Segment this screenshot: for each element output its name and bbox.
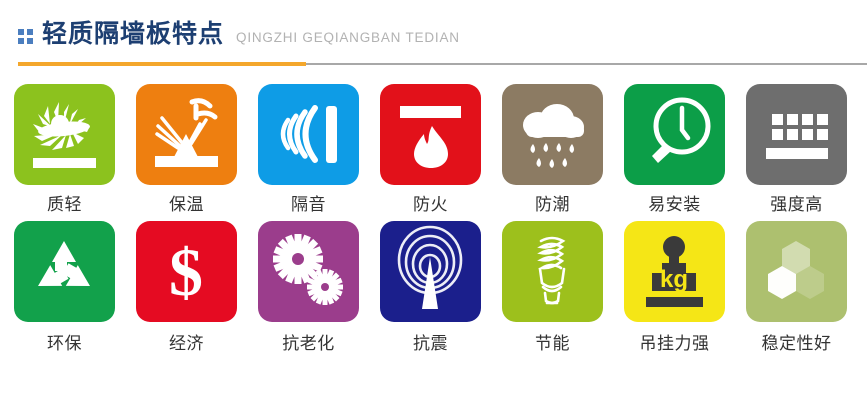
feature-tile[interactable] xyxy=(624,84,725,185)
feature-item[interactable]: $ 经济 xyxy=(136,221,237,354)
feature-label: 节能 xyxy=(502,335,603,354)
feature-item[interactable]: 防火 xyxy=(380,84,481,215)
feature-item[interactable]: 隔音 xyxy=(258,84,359,215)
feature-item[interactable]: 质轻 xyxy=(14,84,115,215)
kg-weight-icon: kg xyxy=(624,221,725,322)
feature-label: 强度高 xyxy=(746,196,847,215)
feature-item[interactable]: 保温 xyxy=(136,84,237,215)
feature-item[interactable]: 抗老化 xyxy=(258,221,359,354)
brick-wall-icon xyxy=(746,84,847,185)
feature-label: 防潮 xyxy=(502,196,603,215)
feature-tile[interactable] xyxy=(14,221,115,322)
feature-tile[interactable]: kg xyxy=(624,221,725,322)
feature-tile[interactable] xyxy=(258,84,359,185)
feature-label: 吊挂力强 xyxy=(624,335,725,354)
feature-tile[interactable] xyxy=(258,221,359,322)
feature-label: 稳定性好 xyxy=(746,335,847,354)
feature-label: 抗震 xyxy=(380,335,481,354)
page-title: 轻质隔墙板特点 xyxy=(42,22,224,47)
feature-tile[interactable] xyxy=(746,84,847,185)
feature-label: 抗老化 xyxy=(258,335,359,354)
clock-wrench-icon xyxy=(624,84,725,185)
feature-tile[interactable] xyxy=(14,84,115,185)
feature-label: 质轻 xyxy=(14,196,115,215)
feature-label: 保温 xyxy=(136,196,237,215)
features-grid: 质轻 xyxy=(0,72,867,353)
page-header: 轻质隔墙板特点 QINGZHI GEQIANGBAN TEDIAN xyxy=(0,0,867,72)
divider-accent xyxy=(18,62,306,66)
page-subtitle: QINGZHI GEQIANGBAN TEDIAN xyxy=(236,31,460,45)
feather-on-board-icon xyxy=(14,84,115,185)
feature-item[interactable]: 抗震 xyxy=(380,221,481,354)
sun-rays-on-board-icon xyxy=(136,84,237,185)
sound-waves-wall-icon xyxy=(258,84,359,185)
features-row-2: 环保 $ 经济 xyxy=(0,221,867,354)
hexagons-icon xyxy=(746,221,847,322)
feature-tile[interactable] xyxy=(380,221,481,322)
grid-dots-icon xyxy=(18,29,33,44)
gears-icon xyxy=(258,221,359,322)
feature-label: 环保 xyxy=(14,335,115,354)
seismic-tower-icon xyxy=(380,221,481,322)
feature-tile[interactable] xyxy=(502,221,603,322)
feature-label: 易安装 xyxy=(624,196,725,215)
feature-item[interactable]: 环保 xyxy=(14,221,115,354)
flame-under-board-icon xyxy=(380,84,481,185)
feature-tile[interactable] xyxy=(380,84,481,185)
rain-cloud-icon xyxy=(502,84,603,185)
recycle-icon xyxy=(14,221,115,322)
feature-label: 隔音 xyxy=(258,196,359,215)
feature-item[interactable]: 稳定性好 xyxy=(746,221,847,354)
header-divider xyxy=(18,62,867,66)
feature-tile[interactable]: $ xyxy=(136,221,237,322)
feature-item[interactable]: 防潮 xyxy=(502,84,603,215)
feature-item[interactable]: 易安装 xyxy=(624,84,725,215)
features-row-1: 质轻 xyxy=(0,84,867,215)
feature-item[interactable]: kg 吊挂力强 xyxy=(624,221,725,354)
svg-text:$: $ xyxy=(169,234,203,310)
header-title-row: 轻质隔墙板特点 QINGZHI GEQIANGBAN TEDIAN xyxy=(18,0,867,47)
feature-tile[interactable] xyxy=(502,84,603,185)
feature-item[interactable]: 节能 xyxy=(502,221,603,354)
feature-tile[interactable] xyxy=(136,84,237,185)
feature-label: 防火 xyxy=(380,196,481,215)
dollar-sign-icon: $ xyxy=(136,221,237,322)
cfl-bulb-icon xyxy=(502,221,603,322)
feature-label: 经济 xyxy=(136,335,237,354)
svg-text:kg: kg xyxy=(660,266,688,293)
feature-item[interactable]: 强度高 xyxy=(746,84,847,215)
feature-tile[interactable] xyxy=(746,221,847,322)
